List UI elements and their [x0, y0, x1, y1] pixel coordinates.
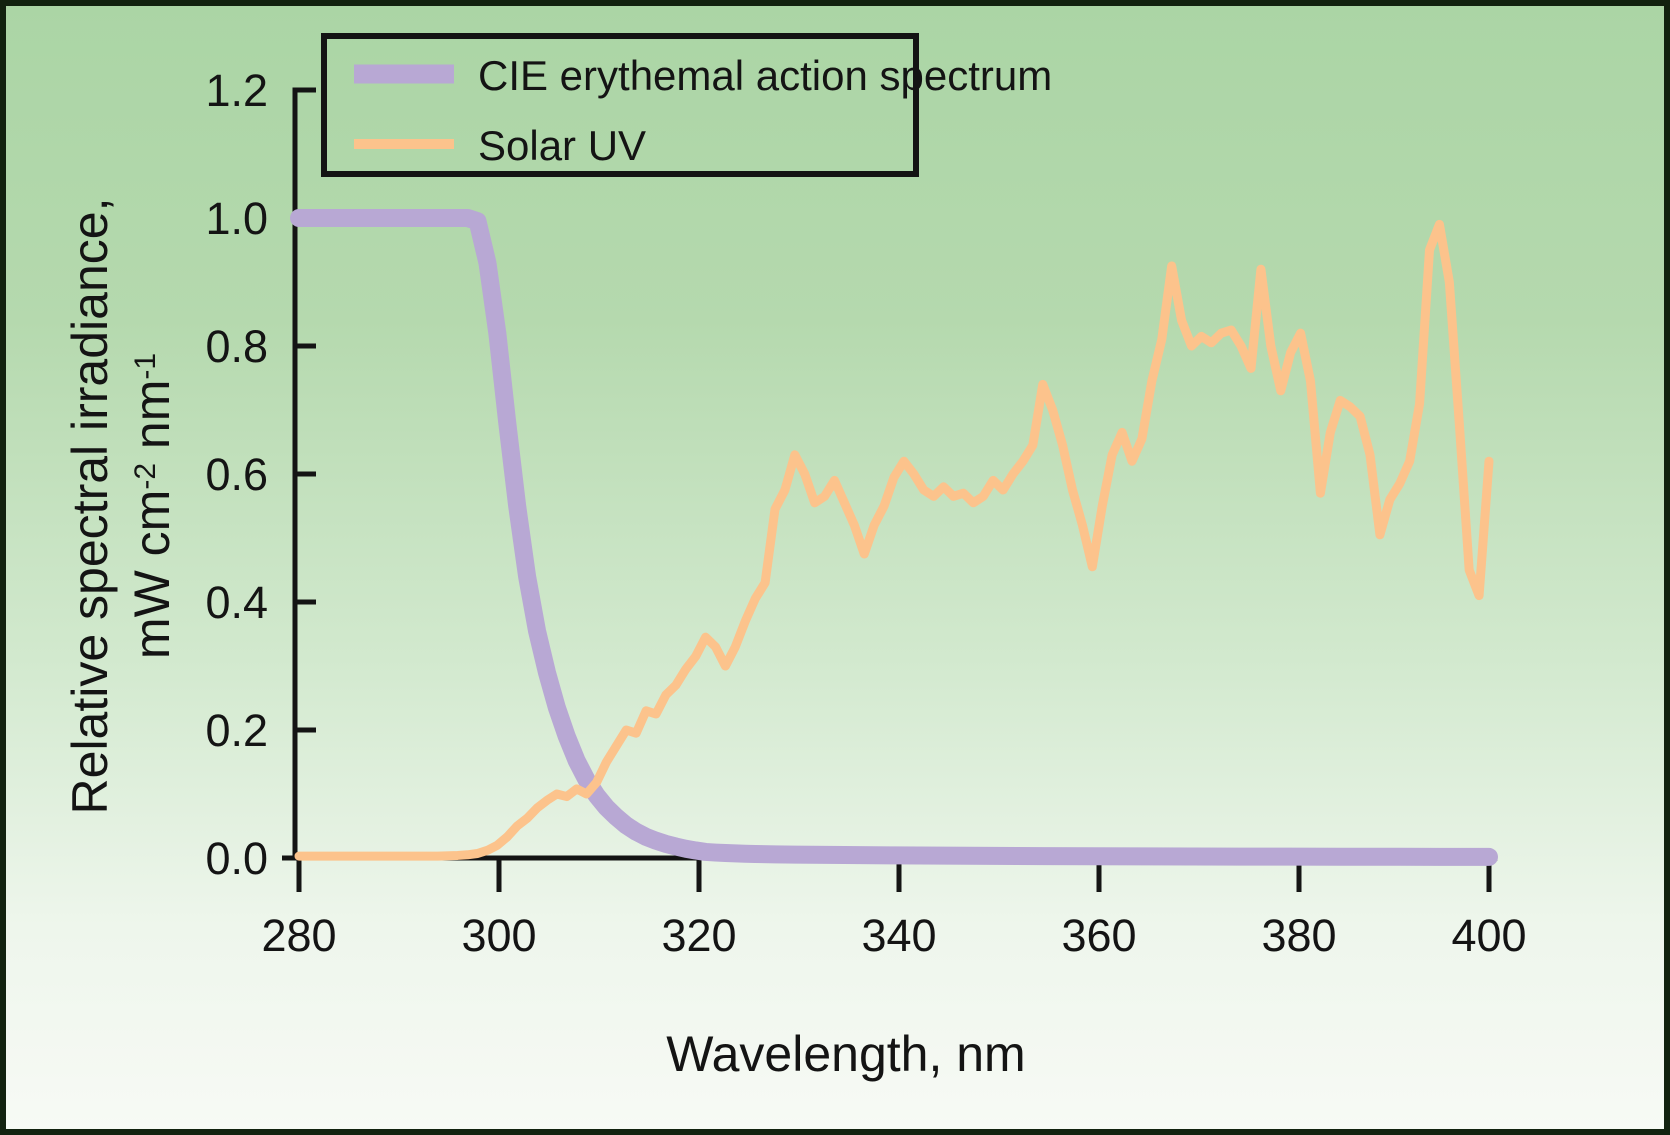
y-axis-unit-exp1: -2 — [129, 463, 162, 490]
legend-label-solar-uv: Solar UV — [478, 122, 646, 169]
legend-label-cie: CIE erythemal action spectrum — [478, 52, 1052, 99]
y-axis-unit-mwcm: mW cm — [124, 490, 180, 659]
series-group — [299, 218, 1489, 857]
y-tick-label: 0.2 — [205, 705, 268, 756]
plot-svg: 1.2 1.0 0.8 0.6 0.4 0.2 0.0 280 300 320 … — [6, 6, 1664, 1129]
y-tick-label: 0.0 — [205, 833, 268, 884]
x-tick-label: 300 — [461, 910, 536, 961]
x-tick-label: 400 — [1451, 910, 1526, 961]
y-tick-labels: 1.2 1.0 0.8 0.6 0.4 0.2 0.0 — [205, 65, 268, 884]
y-tick-label: 0.8 — [205, 321, 268, 372]
legend: CIE erythemal action spectrum Solar UV — [324, 36, 1052, 174]
y-tick-label: 0.6 — [205, 449, 268, 500]
series-solar-uv — [299, 224, 1489, 856]
x-tick-label: 280 — [261, 910, 336, 961]
y-tick-label: 1.0 — [205, 193, 268, 244]
x-tick-label: 320 — [661, 910, 736, 961]
x-tick-label: 360 — [1061, 910, 1136, 961]
x-tick-labels: 280 300 320 340 360 380 400 — [261, 910, 1526, 961]
chart-figure: 1.2 1.0 0.8 0.6 0.4 0.2 0.0 280 300 320 … — [0, 0, 1670, 1135]
y-axis-title-line2: mW cm-2 nm-1 — [124, 353, 180, 659]
y-axis-unit-nm: nm — [124, 380, 180, 463]
x-tick-label: 380 — [1261, 910, 1336, 961]
y-axis-unit-exp2: -1 — [129, 353, 162, 380]
x-tick-label: 340 — [861, 910, 936, 961]
y-tick-label: 0.4 — [205, 577, 268, 628]
x-axis-title: Wavelength, nm — [666, 1026, 1025, 1082]
series-cie-erythemal-action-spectrum — [299, 218, 1489, 857]
y-tick-label: 1.2 — [205, 65, 268, 116]
y-tick-marks — [282, 90, 316, 858]
y-axis-title-line1: Relative spectral irradiance, — [62, 198, 118, 815]
